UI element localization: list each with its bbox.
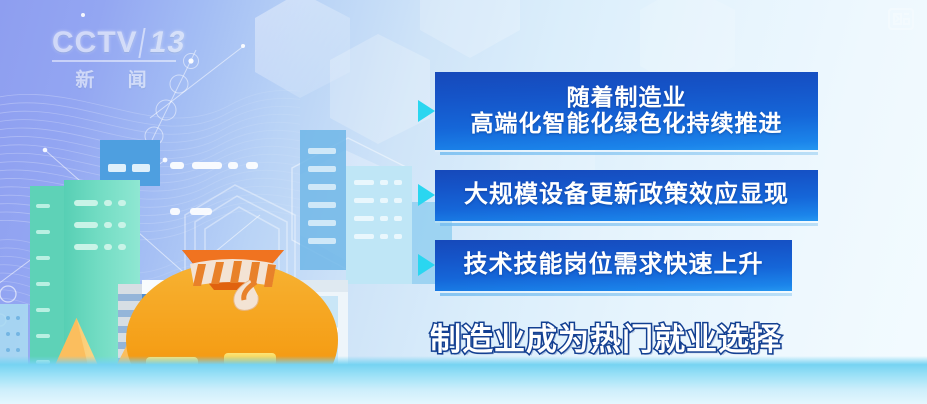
headline-banner-1[interactable]: 随着制造业 高端化智能化绿色化持续推进: [435, 72, 818, 150]
banner-1-text: 随着制造业 高端化智能化绿色化持续推进: [471, 85, 783, 137]
bottom-cyan-band: [0, 356, 927, 404]
banner-3-underline: [440, 293, 792, 296]
logo-cctv-text: CCTV: [52, 28, 138, 58]
headline-banner-3[interactable]: 技术技能岗位需求快速上升: [435, 240, 792, 291]
logo-subtitle: 新 闻: [52, 65, 184, 92]
banner-3-text: 技术技能岗位需求快速上升: [464, 252, 764, 279]
banner-1-underline: [440, 152, 818, 155]
banner-2-underline: [440, 223, 818, 226]
cctv13-logo: CCTV 13 新 闻: [52, 28, 184, 90]
headline-banner-2[interactable]: 大规模设备更新政策效应显现: [435, 170, 818, 221]
broadcast-screen: CCTV 13 新 闻: [0, 0, 927, 404]
banner-2-text: 大规模设备更新政策效应显现: [464, 182, 789, 209]
logo-channel-number: 13: [138, 28, 188, 58]
logo-wordmark: CCTV 13: [52, 28, 184, 58]
play-arrow-icon-2: [418, 184, 435, 206]
main-headline: 制造业成为热门就业选择: [430, 312, 830, 360]
logo-divider: [52, 60, 176, 62]
building-blue-top: [100, 140, 160, 186]
play-arrow-icon-3: [418, 254, 435, 276]
play-arrow-icon-1: [418, 100, 435, 122]
cctv-watermark-icon: [888, 8, 914, 30]
